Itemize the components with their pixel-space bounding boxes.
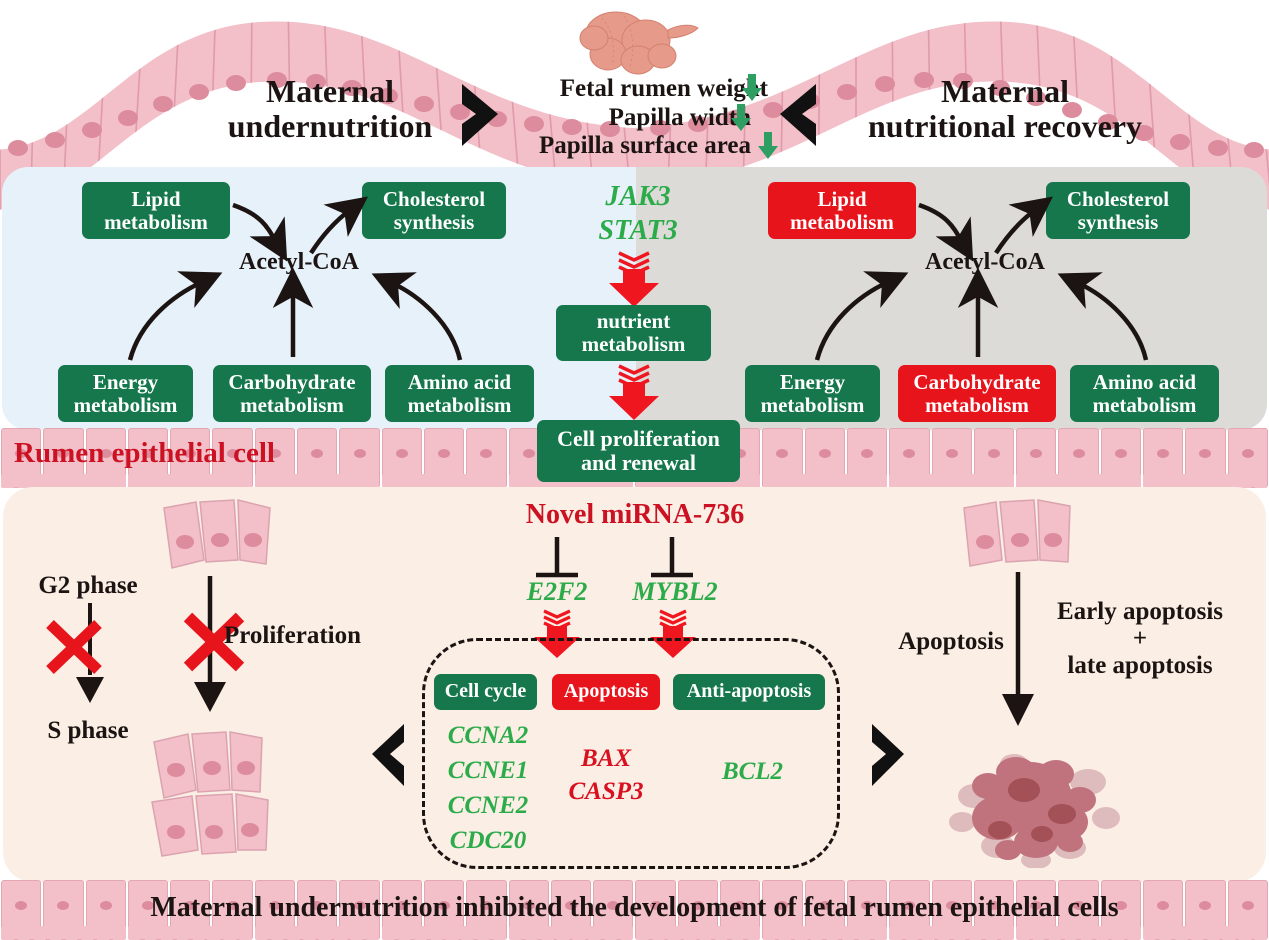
box-left-amino-acid-metabolism[interactable]: Amino acid metabolism [385,365,534,422]
e2f2-text: E2F2 [527,577,588,606]
epithelial-cells-top-right [960,498,1090,578]
box-left-lipid-line2: metabolism [104,210,208,234]
measure-row-0: Fetal rumen weight [478,75,768,102]
stat3-text: STAT3 [598,215,677,246]
maternal-recovery-label: Maternal nutritional recovery [840,74,1170,143]
prolif-line2: and renewal [581,450,696,475]
box-right-lipid-line1: Lipid [817,187,866,211]
s-phase-label: S phase [18,717,158,744]
gene-ccna2: CCNA2 [438,722,538,750]
jak3-label: JAK3 [573,182,703,213]
cell-cycle-title: Cell cycle [445,681,527,703]
mybl2-text: MYBL2 [632,577,717,606]
gene-cdc20: CDC20 [438,827,538,855]
apoptosis-side-label: Apoptosis [886,628,1016,655]
box-left-chol-line1: Cholesterol [383,187,485,211]
down-arrow-icon-0 [740,74,764,102]
nutrient-line2: metabolism [582,332,686,356]
down-arrow-icon-2 [756,132,780,160]
box-right-chol-line1: Cholesterol [1067,187,1169,211]
rumen-epithelial-cell-label: Rumen epithelial cell [14,438,414,469]
maternal-undernutrition-line2: undernutrition [210,109,450,144]
box-left-energy-metabolism[interactable]: Energy metabolism [58,365,193,422]
box-left-carb-line1: Carbohydrate [228,370,355,394]
red-x-icon-g2 [40,612,110,682]
red-down-arrow-icon-2 [603,362,665,422]
mybl2-label: MYBL2 [620,578,730,607]
proliferation-label: Proliferation [224,622,404,649]
measure-label-2: Papilla surface area [539,132,751,159]
box-left-chol-line2: synthesis [394,210,475,234]
gene-ccne1-text: CCNE1 [448,757,529,784]
chevron-left-icon-top-right [772,80,826,150]
nutrient-line1: nutrient [597,309,671,333]
down-arrow-icon-1 [729,104,753,132]
box-right-lipid-line2: metabolism [790,210,894,234]
box-right-energy-line1: Energy [780,370,845,394]
box-left-energy-line2: metabolism [74,393,178,417]
epithelium-cilia-bottom [0,926,1269,940]
box-left-energy-line1: Energy [93,370,158,394]
novel-mirna-title: Novel miRNA-736 [495,500,775,530]
box-right-carb-line2: metabolism [925,393,1029,417]
gene-ccne2-text: CCNE2 [448,792,529,819]
maternal-undernutrition-label: Maternal undernutrition [210,74,450,143]
stat3-label: STAT3 [573,216,703,247]
acetyl-coa-right: Acetyl-CoA [900,250,1070,276]
box-left-lipid-metabolism[interactable]: Lipid metabolism [82,182,230,239]
box-left-cholesterol-synthesis[interactable]: Cholesterol synthesis [362,182,506,239]
box-anti-apoptosis[interactable]: Anti-apoptosis [673,674,825,710]
chevron-right-icon-bottom [864,722,910,788]
box-right-energy-metabolism[interactable]: Energy metabolism [745,365,880,422]
early-apoptosis-line1: Early apoptosis [1028,598,1252,625]
measure-row-2: Papilla surface area [460,132,751,159]
anti-apoptosis-title: Anti-apoptosis [687,681,811,703]
rumen-organ-icon [572,4,700,76]
acetyl-coa-left: Acetyl-CoA [214,250,384,276]
early-late-apoptosis-label: Early apoptosis + late apoptosis [1028,598,1252,679]
box-left-carb-line2: metabolism [240,393,344,417]
box-right-carbohydrate-metabolism[interactable]: Carbohydrate metabolism [898,365,1056,422]
box-right-cholesterol-synthesis[interactable]: Cholesterol synthesis [1046,182,1190,239]
box-left-lipid-line1: Lipid [131,187,180,211]
novel-mirna-text: Novel miRNA-736 [526,499,745,530]
bottom-caption: Maternal undernutrition inhibited the de… [0,893,1269,923]
maternal-recovery-line2: nutritional recovery [840,109,1170,144]
rumen-epithelial-cell-text: Rumen epithelial cell [14,437,275,469]
red-down-arrow-icon-1 [603,249,665,309]
gene-bcl2-text: BCL2 [722,758,783,785]
box-right-amino-line1: Amino acid [1093,370,1196,394]
prolif-line1: Cell proliferation [557,426,720,451]
box-right-amino-acid-metabolism[interactable]: Amino acid metabolism [1070,365,1219,422]
epithelial-cells-top-left [160,498,290,578]
gene-ccne2: CCNE2 [438,792,538,820]
measure-row-1: Papilla width [478,104,751,131]
box-left-amino-line2: metabolism [408,393,512,417]
measure-label-0: Fetal rumen weight [560,75,768,102]
epithelial-cells-bottom-left [148,728,288,858]
chevron-left-icon-bottom [366,722,412,788]
maternal-undernutrition-line1: Maternal [210,74,450,109]
box-right-amino-line2: metabolism [1093,393,1197,417]
gene-bax: BAX [556,745,656,774]
box-right-carb-line1: Carbohydrate [913,370,1040,394]
g2-phase-label: G2 phase [18,572,158,599]
box-left-carbohydrate-metabolism[interactable]: Carbohydrate metabolism [213,365,371,422]
box-right-energy-line2: metabolism [761,393,865,417]
acetyl-coa-right-text: Acetyl-CoA [925,249,1045,275]
apoptotic-debris-icon [938,738,1138,868]
apoptosis-side-text: Apoptosis [898,628,1004,655]
g2-phase-text: G2 phase [38,572,137,599]
apoptosis-title: Apoptosis [564,681,648,703]
bottom-caption-text: Maternal undernutrition inhibited the de… [150,892,1118,923]
box-nutrient-metabolism[interactable]: nutrient metabolism [556,305,711,361]
gene-casp3: CASP3 [556,778,656,807]
gene-ccna2-text: CCNA2 [448,722,529,749]
box-left-amino-line1: Amino acid [408,370,511,394]
e2f2-label: E2F2 [507,578,607,607]
box-right-chol-line2: synthesis [1078,210,1159,234]
gene-ccne1: CCNE1 [438,757,538,785]
acetyl-coa-left-text: Acetyl-CoA [239,249,359,275]
box-right-lipid-metabolism[interactable]: Lipid metabolism [768,182,916,239]
s-phase-text: S phase [47,717,128,744]
gene-bcl2: BCL2 [700,758,805,786]
maternal-recovery-line1: Maternal [840,74,1170,109]
box-cell-cycle[interactable]: Cell cycle [434,674,537,710]
gene-casp3-text: CASP3 [568,778,643,805]
jak3-text: JAK3 [605,181,670,212]
gene-bax-text: BAX [581,745,631,772]
proliferation-text: Proliferation [224,622,361,649]
gene-cdc20-text: CDC20 [450,827,526,854]
box-apoptosis[interactable]: Apoptosis [552,674,660,710]
early-apoptosis-line3: late apoptosis [1028,652,1252,679]
early-apoptosis-line2: + [1028,625,1252,652]
box-cell-proliferation-renewal[interactable]: Cell proliferation and renewal [537,420,740,482]
